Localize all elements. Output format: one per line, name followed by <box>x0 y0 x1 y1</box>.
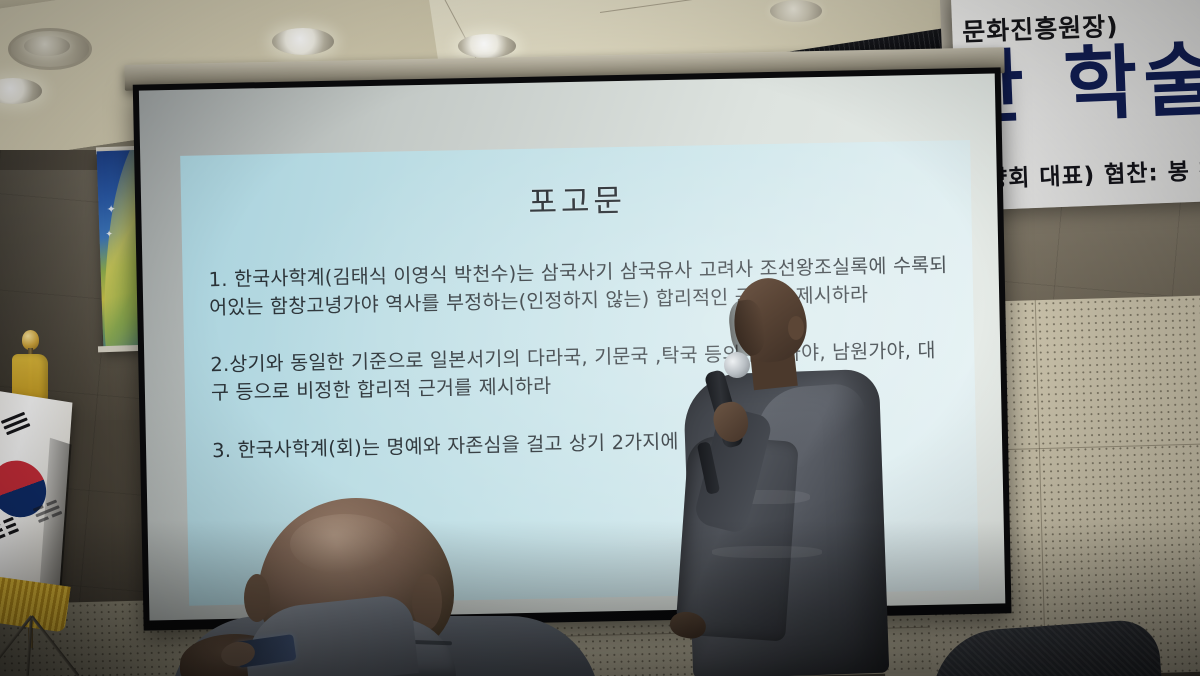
slide-title: 포고문 <box>207 168 948 228</box>
ceiling-light-6 <box>770 0 822 22</box>
trigram-geon-icon <box>1 412 31 437</box>
foreground-shadow <box>0 520 1200 676</box>
speaker-ear <box>788 316 804 340</box>
ceiling-light-3 <box>272 28 334 55</box>
conference-photo-scene: ✦ ✦ 문화진흥원장) 한 학술 선양회 대표) 협찬: 봉 천 포고문 1. … <box>0 0 1200 676</box>
star-icon: ✦ <box>105 229 113 240</box>
ceiling-light-5 <box>458 34 516 58</box>
flag-finial-icon <box>22 330 39 350</box>
ceiling-light-1 <box>24 36 70 56</box>
star-icon: ✦ <box>106 203 116 216</box>
